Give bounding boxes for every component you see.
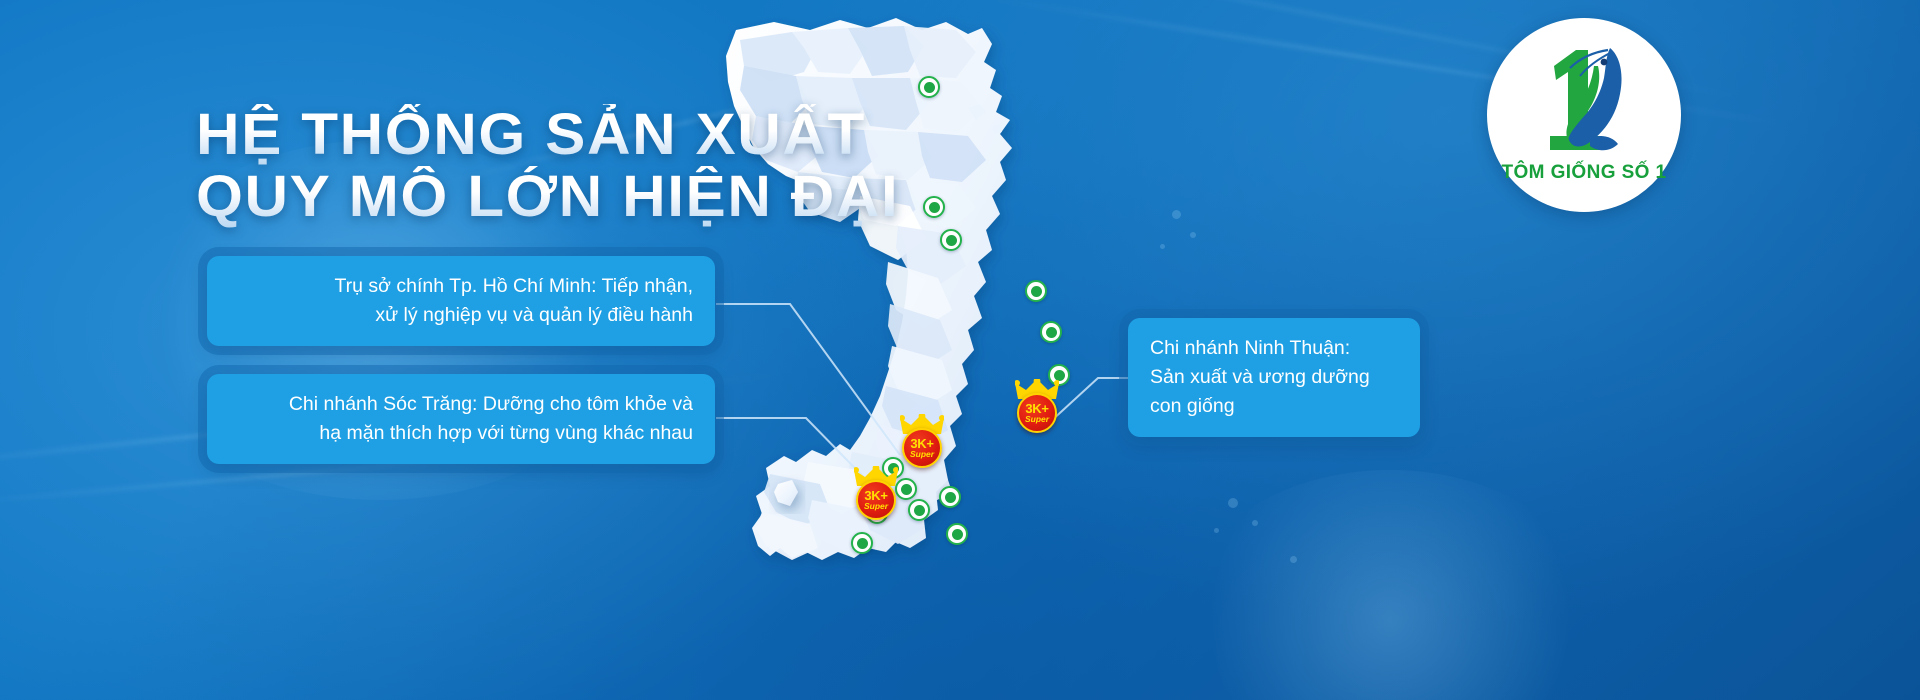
badge-label-top: 3K+ <box>864 490 887 502</box>
banner-stage: HỆ THỐNG SẢN XUẤT QUY MÔ LỚN HIỆN ĐẠI Tr… <box>0 0 1920 700</box>
badge-3k-super-ninh-thuan[interactable]: 3K+Super <box>1013 379 1061 437</box>
site-marker-north-2[interactable] <box>940 229 962 251</box>
callout-hcm-line-2: xử lý nghiệp vụ và quản lý điều hành <box>229 301 693 330</box>
logo-text: TÔM GIỐNG SỐ 1 <box>1501 162 1666 184</box>
site-marker-delta-4[interactable] <box>908 499 930 521</box>
site-marker-central-1[interactable] <box>1025 280 1047 302</box>
callout-ninh-thuan-line-3: con giống <box>1150 392 1398 421</box>
badge-disc: 3K+Super <box>902 428 942 468</box>
site-marker-north-1[interactable] <box>923 196 945 218</box>
badge-disc: 3K+Super <box>856 480 896 520</box>
callout-ninh-thuan-line-1: Chi nhánh Ninh Thuận: <box>1150 334 1398 363</box>
badge-3k-super-delta[interactable]: 3K+Super <box>898 414 946 472</box>
logo-shrimp-fin <box>1590 136 1618 150</box>
site-marker-central-2[interactable] <box>1040 321 1062 343</box>
badge-3k-super-soc-trang[interactable]: 3K+Super <box>852 466 900 524</box>
site-marker-delta-3[interactable] <box>851 532 873 554</box>
callout-soc-trang-line-1: Chi nhánh Sóc Trăng: Dưỡng cho tôm khỏe … <box>229 390 693 419</box>
site-marker-delta-5[interactable] <box>939 486 961 508</box>
badge-label-bottom: Super <box>910 450 934 459</box>
logo-shrimp-eye <box>1601 59 1608 66</box>
callout-soc-trang[interactable]: Chi nhánh Sóc Trăng: Dưỡng cho tôm khỏe … <box>207 374 715 464</box>
site-marker-hanoi[interactable] <box>918 76 940 98</box>
callout-hcm-line-1: Trụ sở chính Tp. Hồ Chí Minh: Tiếp nhận, <box>229 272 693 301</box>
callout-soc-trang-line-2: hạ mặn thích hợp với từng vùng khác nhau <box>229 419 693 448</box>
callout-ho-chi-minh[interactable]: Trụ sở chính Tp. Hồ Chí Minh: Tiếp nhận,… <box>207 256 715 346</box>
badge-label-bottom: Super <box>1025 415 1049 424</box>
badge-label-top: 3K+ <box>1025 403 1048 415</box>
callout-ninh-thuan[interactable]: Chi nhánh Ninh Thuận: Sản xuất và ương d… <box>1128 318 1420 437</box>
page-title: HỆ THỐNG SẢN XUẤT QUY MÔ LỚN HIỆN ĐẠI <box>196 104 956 228</box>
badge-disc: 3K+Super <box>1017 393 1057 433</box>
badge-label-top: 3K+ <box>910 438 933 450</box>
logo-badge[interactable]: TÔM GIỐNG SỐ 1 <box>1487 18 1681 212</box>
title-line-2: QUY MÔ LỚN HIỆN ĐẠI <box>196 166 986 228</box>
callout-ninh-thuan-line-2: Sản xuất và ương dưỡng <box>1150 363 1398 392</box>
title-line-1: HỆ THỐNG SẢN XUẤT <box>196 104 986 166</box>
badge-label-bottom: Super <box>864 502 888 511</box>
site-marker-delta-6[interactable] <box>946 523 968 545</box>
shrimp-number-one-icon <box>1524 32 1644 160</box>
